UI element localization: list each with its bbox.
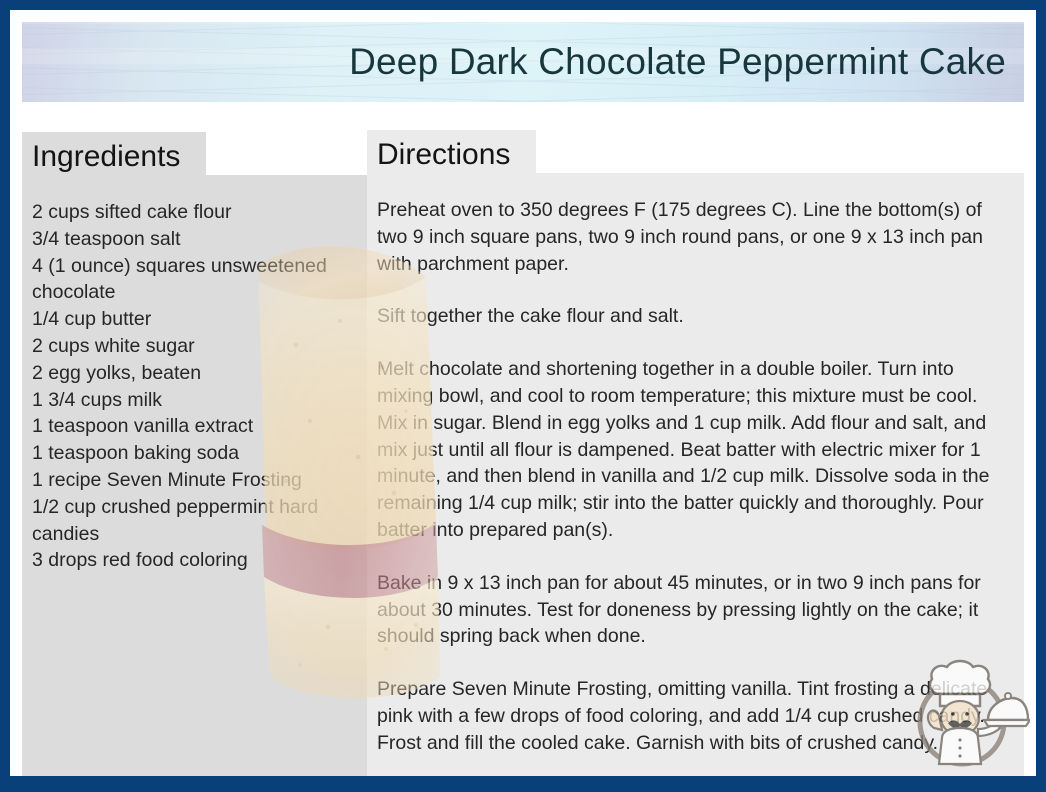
list-item: 1 teaspoon vanilla extract [32,413,357,440]
direction-step: Sift together the cake flour and salt. [377,303,1010,330]
direction-step: Bake in 9 x 13 inch pan for about 45 min… [377,570,1010,650]
directions-header: Directions [367,130,536,180]
list-item: 1 teaspoon baking soda [32,440,357,467]
ingredients-header: Ingredients [22,132,206,182]
page-title: Deep Dark Chocolate Peppermint Cake [349,41,1006,83]
list-item: 1 3/4 cups milk [32,387,357,414]
title-banner: Deep Dark Chocolate Peppermint Cake [22,22,1024,102]
directions-content: Preheat oven to 350 degrees F (175 degre… [377,197,1010,757]
list-item: 1/2 cup crushed peppermint hard candies [32,494,357,548]
ingredients-list: 2 cups sifted cake flour 3/4 teaspoon sa… [32,199,357,574]
direction-step: Melt chocolate and shortening together i… [377,356,1010,544]
list-item: 3 drops red food coloring [32,547,357,574]
direction-step: Prepare Seven Minute Frosting, omitting … [377,676,1010,756]
ingredients-content: 2 cups sifted cake flour 3/4 teaspoon sa… [32,199,357,574]
directions-panel: Preheat oven to 350 degrees F (175 degre… [367,173,1024,776]
recipe-card: Deep Dark Chocolate Peppermint Cake 2 cu… [0,0,1046,792]
list-item: 3/4 teaspoon salt [32,226,357,253]
list-item: 2 egg yolks, beaten [32,360,357,387]
list-item: 2 cups sifted cake flour [32,199,357,226]
list-item: 4 (1 ounce) squares unsweetened chocolat… [32,253,357,307]
recipe-card-inner: Deep Dark Chocolate Peppermint Cake 2 cu… [10,10,1036,776]
list-item: 1/4 cup butter [32,306,357,333]
ingredients-panel: 2 cups sifted cake flour 3/4 teaspoon sa… [22,175,367,776]
direction-step: Preheat oven to 350 degrees F (175 degre… [377,197,1010,277]
list-item: 1 recipe Seven Minute Frosting [32,467,357,494]
list-item: 2 cups white sugar [32,333,357,360]
